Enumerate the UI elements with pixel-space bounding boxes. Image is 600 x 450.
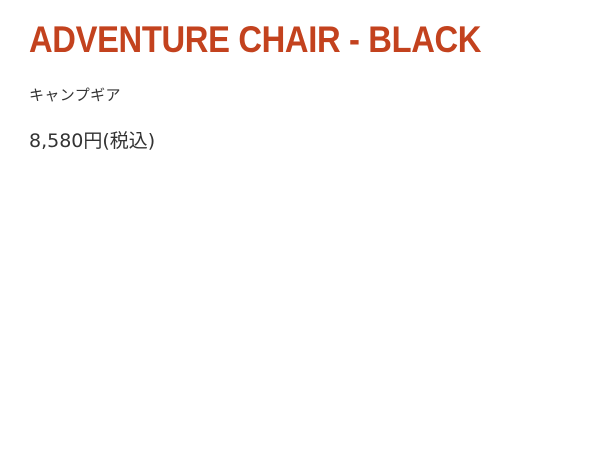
product-info-block: ADVENTURE CHAIR - BLACK キャンプギア 8,580円(税込… — [29, 20, 580, 60]
product-category: キャンプギア — [29, 84, 121, 106]
product-detail-page: ADVENTURE CHAIR - BLACK キャンプギア 8,580円(税込… — [0, 0, 600, 450]
product-content-area — [0, 150, 560, 440]
product-title: ADVENTURE CHAIR - BLACK — [29, 20, 517, 60]
